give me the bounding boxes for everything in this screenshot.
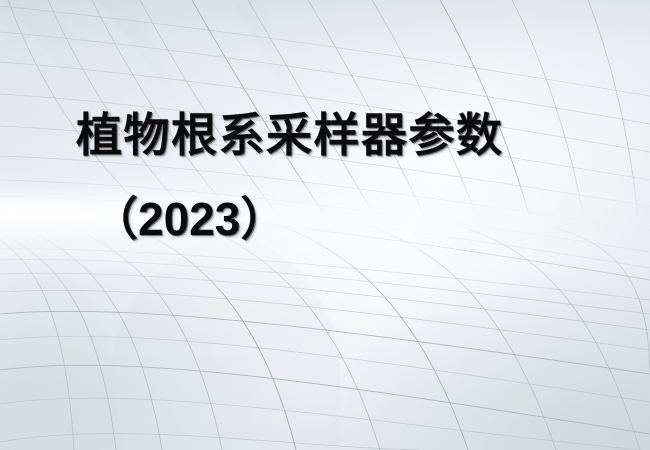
title-slide: 植物根系采样器参数 （2023） — [0, 0, 650, 450]
slide-title: 植物根系采样器参数 （2023） — [0, 112, 650, 252]
slide-title-line-2: （2023） — [0, 196, 650, 252]
slide-title-line-1: 植物根系采样器参数 — [0, 112, 650, 168]
